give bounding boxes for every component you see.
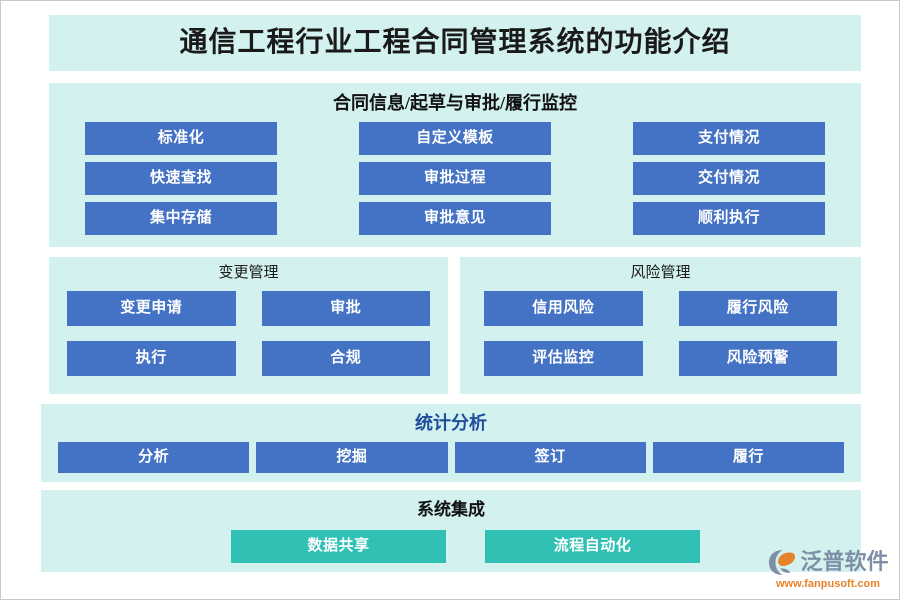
section-heading-stats: 统计分析 <box>41 414 861 432</box>
brand-logo-row: 泛普软件 <box>767 549 888 576</box>
change-button-approval[interactable]: 审批 <box>262 291 431 326</box>
integration-button-row: 数据共享 流程自动化 <box>231 530 700 563</box>
stats-button-mining[interactable]: 挖掘 <box>256 442 447 473</box>
change-button-grid: 变更申请 审批 执行 合规 <box>67 291 430 383</box>
stats-button-row: 分析 挖掘 签订 履行 <box>58 442 844 473</box>
section-heading-integration: 系统集成 <box>41 501 861 518</box>
brand-name: 泛普软件 <box>800 551 888 573</box>
risk-button-credit-risk[interactable]: 信用风险 <box>484 291 643 326</box>
contract-button-approval-process[interactable]: 审批过程 <box>359 162 551 195</box>
contract-button-smooth-execution[interactable]: 顺利执行 <box>633 202 825 235</box>
brand-watermark: 泛普软件 www.fanpusoft.com <box>758 544 898 594</box>
section-heading-contract: 合同信息/起草与审批/履行监控 <box>49 94 861 112</box>
section-risk-management: 风险管理 信用风险 履行风险 评估监控 风险预警 <box>460 257 861 394</box>
risk-button-performance-risk[interactable]: 履行风险 <box>679 291 838 326</box>
change-button-change-request[interactable]: 变更申请 <box>67 291 236 326</box>
risk-button-risk-warning[interactable]: 风险预警 <box>679 341 838 376</box>
contract-button-custom-template[interactable]: 自定义模板 <box>359 122 551 155</box>
contract-button-grid: 标准化 自定义模板 支付情况 快速查找 审批过程 交付情况 集中存储 审批意见 … <box>85 122 825 235</box>
section-heading-risk: 风险管理 <box>460 266 861 281</box>
page-title-banner: 通信工程行业工程合同管理系统的功能介绍 <box>49 15 861 71</box>
section-change-management: 变更管理 变更申请 审批 执行 合规 <box>49 257 448 394</box>
contract-button-centralized-storage[interactable]: 集中存储 <box>85 202 277 235</box>
integration-button-process-automation[interactable]: 流程自动化 <box>485 530 700 563</box>
fanpu-leaf-logo-icon <box>767 549 797 576</box>
change-button-execution[interactable]: 执行 <box>67 341 236 376</box>
brand-url: www.fanpusoft.com <box>776 579 880 590</box>
risk-button-assessment-monitoring[interactable]: 评估监控 <box>484 341 643 376</box>
stats-button-signing[interactable]: 签订 <box>455 442 646 473</box>
stats-button-performance[interactable]: 履行 <box>653 442 844 473</box>
change-button-compliance[interactable]: 合规 <box>262 341 431 376</box>
contract-button-standardization[interactable]: 标准化 <box>85 122 277 155</box>
page-title: 通信工程行业工程合同管理系统的功能介绍 <box>179 29 730 57</box>
stats-button-analysis[interactable]: 分析 <box>58 442 249 473</box>
section-contract-information: 合同信息/起草与审批/履行监控 标准化 自定义模板 支付情况 快速查找 审批过程… <box>49 83 861 247</box>
section-heading-change: 变更管理 <box>49 266 448 281</box>
contract-button-delivery-status[interactable]: 交付情况 <box>633 162 825 195</box>
contract-button-quick-search[interactable]: 快速查找 <box>85 162 277 195</box>
infographic-page: 通信工程行业工程合同管理系统的功能介绍 合同信息/起草与审批/履行监控 标准化 … <box>0 0 900 600</box>
section-system-integration: 系统集成 数据共享 流程自动化 <box>41 490 861 572</box>
integration-button-data-sharing[interactable]: 数据共享 <box>231 530 446 563</box>
section-statistical-analysis: 统计分析 分析 挖掘 签订 履行 <box>41 404 861 482</box>
contract-button-approval-comments[interactable]: 审批意见 <box>359 202 551 235</box>
contract-button-payment-status[interactable]: 支付情况 <box>633 122 825 155</box>
risk-button-grid: 信用风险 履行风险 评估监控 风险预警 <box>484 291 837 383</box>
